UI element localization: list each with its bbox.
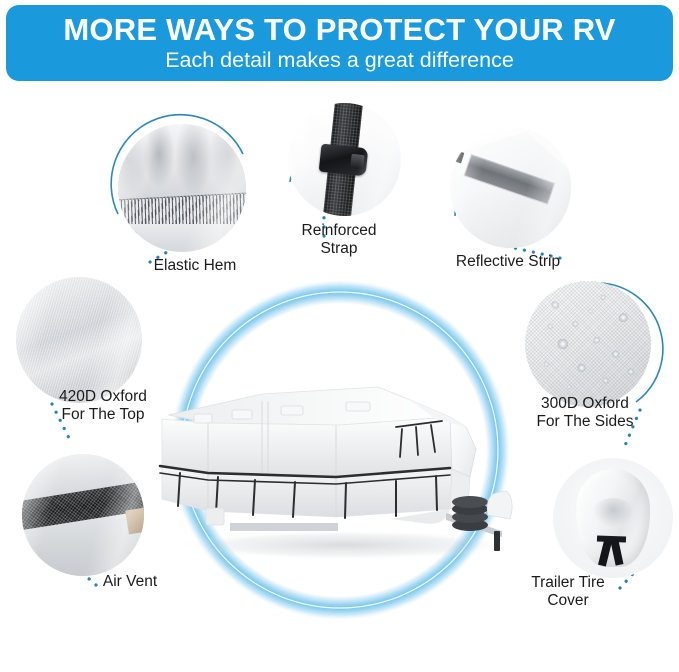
feature-image-trailer-tire-cover [553, 458, 673, 578]
header-banner: MORE WAYS TO PROTECT YOUR RV Each detail… [6, 5, 673, 81]
center-product-image [150, 373, 530, 563]
covered-travel-trailer-illustration [150, 373, 530, 563]
feature-label-reinforced-strap: Reinforced Strap [274, 222, 404, 259]
feature-image-reinforced-strap [288, 103, 401, 216]
feature-image-elastic-hem [118, 124, 246, 252]
feature-image-420d-oxford [16, 277, 142, 403]
feature-image-reflective-strip [450, 127, 571, 248]
feature-label-elastic-hem: Elastic Hem [120, 257, 270, 275]
banner-subtitle: Each detail makes a great difference [165, 49, 514, 73]
feature-label-reflective-strip: Reflective Strip [418, 253, 598, 271]
feature-label-air-vent: Air Vent [60, 573, 200, 591]
banner-title: MORE WAYS TO PROTECT YOUR RV [63, 14, 615, 46]
feature-image-air-vent [22, 454, 144, 576]
feature-image-300d-oxford [525, 281, 651, 407]
feature-label-trailer-tire-cover: Trailer Tire Cover [490, 574, 646, 611]
infographic-canvas: MORE WAYS TO PROTECT YOUR RV Each detail… [0, 0, 679, 672]
